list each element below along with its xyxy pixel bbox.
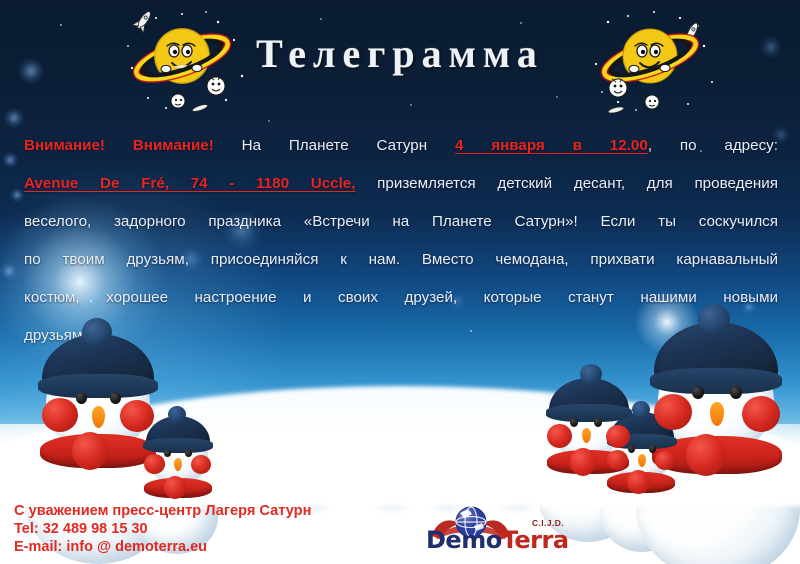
body-line: Avenue De Fré, 74 - 1180 Uccle, приземля… <box>24 165 778 203</box>
body-line: по твоим друзьям, присоединяйся к нам. В… <box>24 241 778 279</box>
logo-word-terra: Terra <box>502 526 569 554</box>
attention-text: Внимание! Внимание! <box>24 137 214 154</box>
body-text: На Планете Сатурн <box>214 137 455 154</box>
body-text: костюм, хорошее настроение и своих друзе… <box>24 289 778 306</box>
body-text: , по адресу: <box>648 137 778 154</box>
announcement-body: Внимание! Внимание! На Планете Сатурн 4 … <box>24 127 778 355</box>
moon-character-icon <box>609 79 627 97</box>
event-address: Avenue De Fré, 74 - 1180 Uccle, <box>24 175 355 192</box>
moon-character-icon <box>171 94 185 108</box>
logo-wordmark: DemoTerra <box>426 526 569 554</box>
demoterra-logo: C.I.J.D. DemoTerra <box>426 502 586 558</box>
telegram-poster: Телеграмма Внимание! Внимание! На Планет… <box>0 0 800 564</box>
footer-signature: С уважением пресс-центр Лагеря Сатурн <box>14 502 311 520</box>
body-text: приземляется детский десант, для проведе… <box>355 175 778 192</box>
footer-contact-block: С уважением пресс-центр Лагеря Сатурн Te… <box>14 502 311 556</box>
body-text: по твоим друзьям, присоединяйся к нам. В… <box>24 251 778 268</box>
page-title: Телеграмма <box>0 30 800 77</box>
body-text: веселого, задорного праздника «Встречи н… <box>24 213 778 230</box>
event-datetime: 4 января в 12.00 <box>455 137 648 154</box>
moon-character-icon <box>207 77 225 95</box>
footer-phone: Tel: 32 489 98 15 30 <box>14 520 311 538</box>
body-line: Внимание! Внимание! На Планете Сатурн 4 … <box>24 127 778 165</box>
footer-email: E-mail: info @ demoterra.eu <box>14 538 311 556</box>
moon-character-icon <box>645 95 659 109</box>
logo-word-demo: Demo <box>426 526 502 554</box>
body-line: костюм, хорошее настроение и своих друзе… <box>24 279 778 317</box>
body-line: веселого, задорного праздника «Встречи н… <box>24 203 778 241</box>
